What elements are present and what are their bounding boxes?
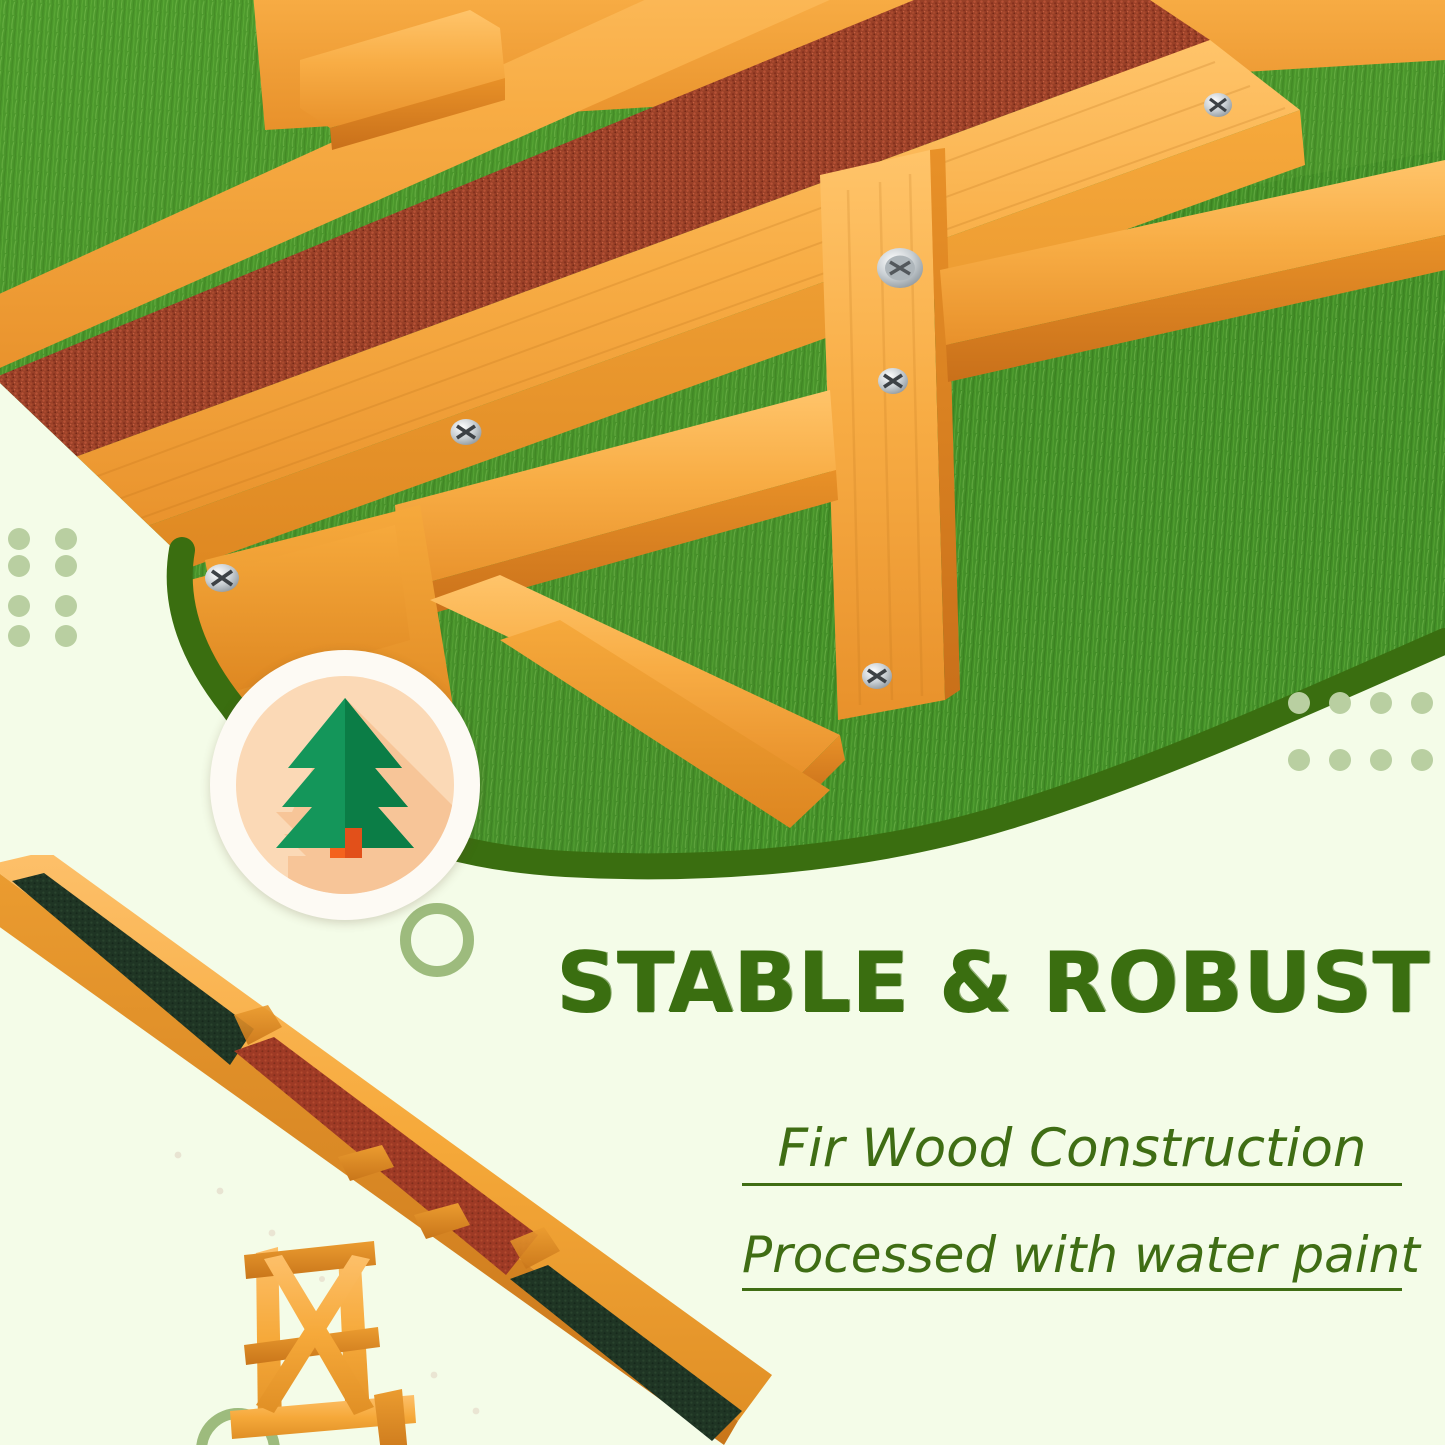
decor-dot — [8, 625, 30, 647]
feature-underline — [742, 1183, 1402, 1186]
decor-dot — [1370, 749, 1392, 771]
screw-icon — [1204, 93, 1232, 117]
page-title: STABLE & ROBUST — [556, 941, 1416, 1026]
decor-dot — [55, 595, 77, 617]
decor-dot — [1411, 692, 1433, 714]
decor-dot — [1329, 692, 1351, 714]
screw-icon — [878, 368, 908, 394]
dot-grid-right — [1288, 692, 1445, 771]
decor-dot — [8, 595, 30, 617]
feature-line-2: Processed with water paint — [742, 1226, 1402, 1291]
decor-dot — [55, 625, 77, 647]
screw-icon — [862, 663, 892, 689]
poster-canvas: STABLE & ROBUST Fir Wood Construction Pr… — [0, 0, 1445, 1445]
decor-dot — [55, 528, 77, 550]
decor-dot — [1288, 692, 1310, 714]
decor-dot — [8, 555, 30, 577]
decor-dot — [55, 555, 77, 577]
dot-grid-left — [8, 528, 102, 647]
feature-line-2-text: Processed with water paint — [742, 1226, 1420, 1284]
feature-line-1-text: Fir Wood Construction — [777, 1118, 1366, 1179]
screw-icon — [877, 248, 923, 288]
feature-line-1: Fir Wood Construction — [742, 1118, 1402, 1186]
decor-dot — [1288, 749, 1310, 771]
decor-dot — [1411, 749, 1433, 771]
feature-underline — [742, 1288, 1402, 1291]
screw-icon — [451, 419, 482, 445]
decor-dot — [1370, 692, 1392, 714]
screw-icon — [205, 564, 239, 592]
decor-dot — [1329, 749, 1351, 771]
decor-dot — [8, 528, 30, 550]
